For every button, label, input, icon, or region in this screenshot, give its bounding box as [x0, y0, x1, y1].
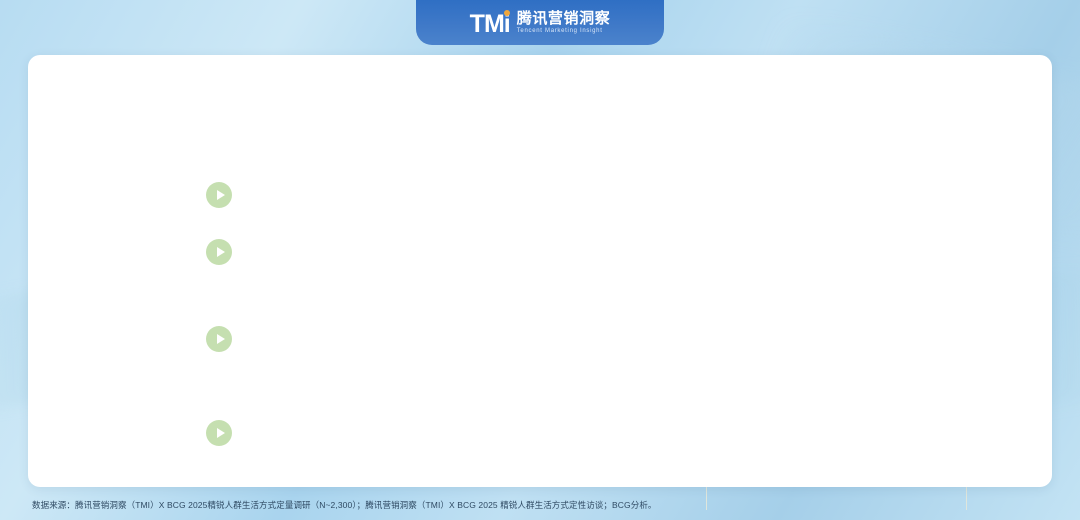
- tmi-brand-names: 腾讯营销洞察 Tencent Marketing Insight: [517, 11, 611, 34]
- play-icon-segment[interactable]: [206, 182, 232, 208]
- tmi-brand-name-cn: 腾讯营销洞察: [517, 11, 611, 27]
- play-icon-top5[interactable]: [206, 326, 232, 352]
- tmi-logo-icon: TMi: [470, 9, 510, 37]
- tmi-brand-banner: TMi 腾讯营销洞察 Tencent Marketing Insight: [416, 0, 664, 45]
- play-icon-drivers[interactable]: [206, 420, 232, 446]
- tmi-logo-dot-icon: [504, 10, 510, 16]
- source-footnote: 数据来源：腾讯营销洞察（TMI）X BCG 2025精锐人群生活方式定量调研（N…: [32, 499, 657, 511]
- content-card: [28, 55, 1052, 487]
- play-icon-category-traits[interactable]: [206, 239, 232, 265]
- tmi-brand-name-en: Tencent Marketing Insight: [517, 28, 611, 35]
